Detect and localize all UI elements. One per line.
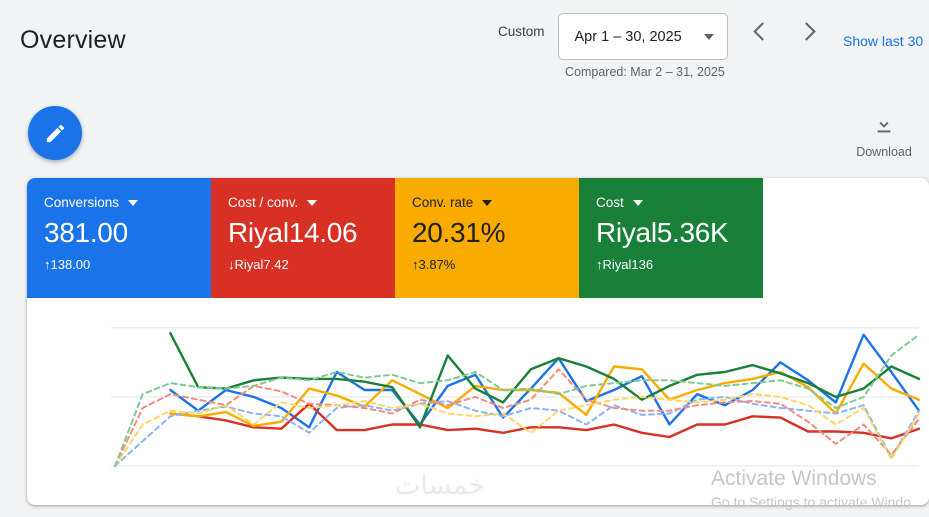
- metric-delta-value: 138.00: [51, 257, 91, 272]
- overview-chart-panel: Conversions381.00↑138.00Cost / conv.Riya…: [27, 178, 929, 505]
- metric-card-name: Conv. rate: [412, 195, 473, 210]
- metric-card[interactable]: CostRiyal5.36K↑Riyal136: [579, 178, 763, 298]
- metric-delta-value: 3.87%: [419, 257, 456, 272]
- edit-fab-button[interactable]: [28, 106, 82, 160]
- download-icon: [873, 114, 895, 136]
- metric-card-value: Riyal5.36K: [596, 217, 763, 249]
- metric-card-name: Conversions: [44, 195, 119, 210]
- activate-windows-watermark: Activate Windows Go to Settings to activ…: [711, 466, 911, 511]
- metric-card-delta: ↑3.87%: [412, 257, 579, 272]
- metric-card-selector[interactable]: Cost / conv.: [228, 195, 395, 210]
- next-period-button[interactable]: [794, 17, 822, 45]
- date-range-control: Custom Apr 1 – 30, 2025: [498, 8, 728, 60]
- metric-card-selector[interactable]: Cost: [596, 195, 763, 210]
- metric-delta-value: Riyal7.42: [235, 257, 289, 272]
- chevron-down-icon: [128, 200, 138, 206]
- download-button[interactable]: Download: [852, 114, 916, 159]
- chevron-down-icon: [307, 200, 317, 206]
- chart-series-line: [115, 335, 919, 466]
- metric-delta-value: Riyal136: [603, 257, 654, 272]
- khamsat-watermark: خمسات: [395, 470, 485, 501]
- pencil-icon: [44, 122, 67, 145]
- chevron-left-icon: [753, 22, 771, 40]
- metric-card-name: Cost: [596, 195, 624, 210]
- metric-card-delta: ↑138.00: [44, 257, 211, 272]
- chevron-down-icon: [633, 200, 643, 206]
- activate-windows-subtitle: Go to Settings to activate Windo: [711, 493, 911, 511]
- date-range-value: Apr 1 – 30, 2025: [575, 29, 682, 45]
- metric-card[interactable]: Conversions381.00↑138.00: [27, 178, 211, 298]
- metric-card-value: 381.00: [44, 217, 211, 249]
- activate-windows-title: Activate Windows: [711, 466, 911, 491]
- metric-card-delta: ↓Riyal7.42: [228, 257, 395, 272]
- chart-series: [115, 333, 919, 466]
- show-last-30-link[interactable]: Show last 30: [843, 33, 923, 49]
- previous-period-button[interactable]: [746, 17, 774, 45]
- chevron-down-icon: [704, 34, 714, 40]
- metric-cards: Conversions381.00↑138.00Cost / conv.Riya…: [27, 178, 763, 298]
- metric-card[interactable]: Conv. rate20.31%↑3.87%: [395, 178, 579, 298]
- chevron-down-icon: [482, 200, 492, 206]
- page-header: Overview Custom Apr 1 – 30, 2025 Compare…: [0, 0, 929, 92]
- metric-card-selector[interactable]: Conv. rate: [412, 195, 579, 210]
- chart-series-line: [170, 335, 919, 428]
- comparison-range-label: Compared: Mar 2 – 31, 2025: [565, 65, 725, 79]
- metric-card-name: Cost / conv.: [228, 195, 298, 210]
- metric-card-selector[interactable]: Conversions: [44, 195, 211, 210]
- download-label: Download: [852, 145, 916, 159]
- date-range-select[interactable]: Apr 1 – 30, 2025: [558, 13, 728, 60]
- chart-series-line: [115, 397, 919, 466]
- chart-gridlines: [111, 328, 919, 466]
- metric-card-value: 20.31%: [412, 217, 579, 249]
- chevron-right-icon: [797, 22, 815, 40]
- metric-card[interactable]: Cost / conv.Riyal14.06↓Riyal7.42: [211, 178, 395, 298]
- date-range-preset-label: Custom: [498, 24, 545, 39]
- metric-card-value: Riyal14.06: [228, 217, 395, 249]
- page-title: Overview: [20, 26, 126, 55]
- metric-card-delta: ↑Riyal136: [596, 257, 763, 272]
